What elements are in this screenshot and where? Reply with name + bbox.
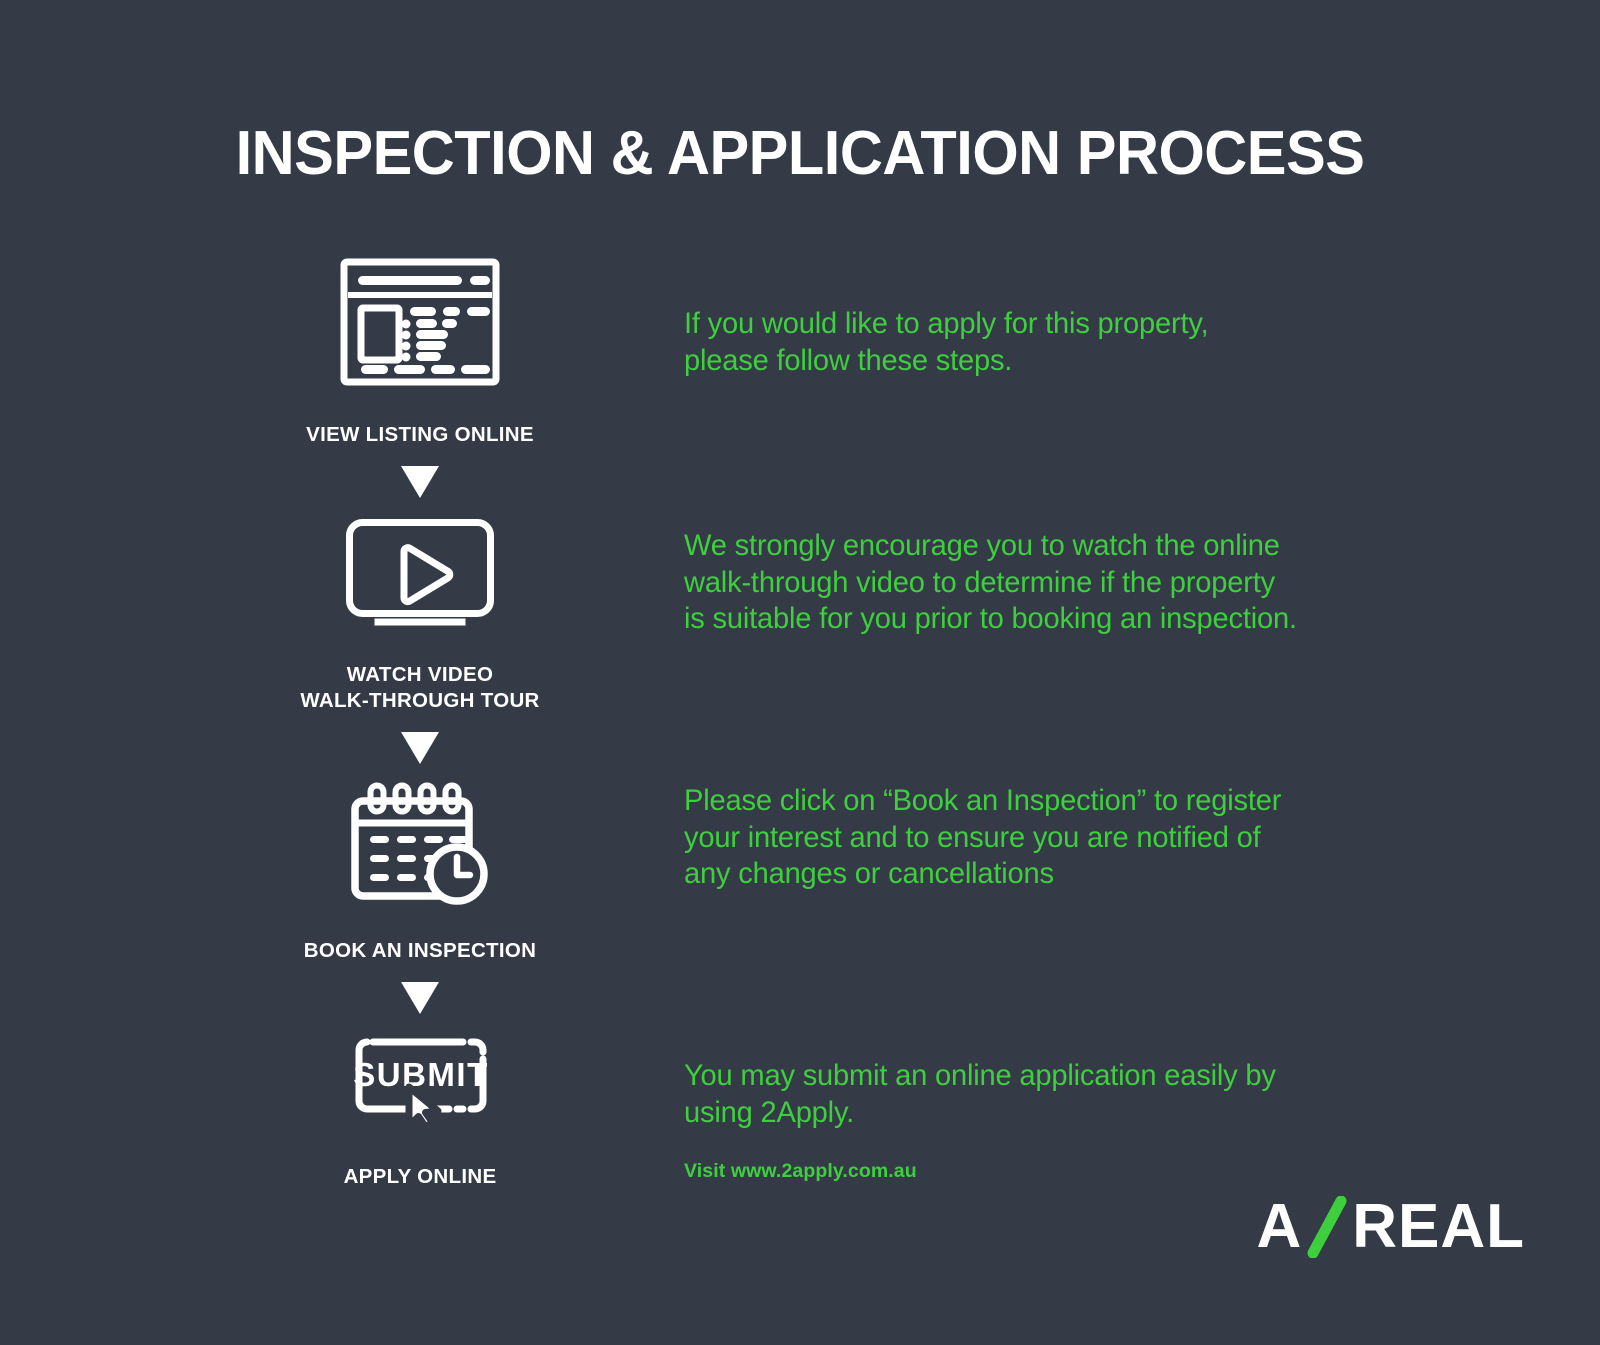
step-label-watch-video: WATCH VIDEO WALK-THROUGH TOUR [300,662,539,714]
logo-slash-icon [1304,1196,1350,1258]
flow-arrow-3 [255,982,585,1014]
flow-arrow-2 [255,732,585,764]
process-flow-column: VIEW LISTING ONLINE WATCH VIDEO WALK-THR… [255,258,585,1190]
step-apply-online: SUBMIT APPLY ONLINE [255,1033,585,1190]
copy-apply-online: You may submit an online application eas… [684,1058,1276,1131]
infographic-page: INSPECTION & APPLICATION PROCESS [0,0,1600,1345]
step-label-apply-online: APPLY ONLINE [344,1164,497,1190]
submit-icon-text: SUBMIT [353,1056,489,1093]
step-view-listing-online: VIEW LISTING ONLINE [255,258,585,448]
logo-word-real: REAL [1352,1196,1525,1258]
copy-watch-video: We strongly encourage you to watch the o… [684,528,1297,638]
copy-view-listing: If you would like to apply for this prop… [684,306,1208,379]
copy-book-inspection: Please click on “Book an Inspection” to … [684,783,1281,893]
submit-button-cursor-icon: SUBMIT [345,1033,495,1133]
page-title: INSPECTION & APPLICATION PROCESS [32,118,1568,189]
flow-arrow-1 [255,466,585,498]
visit-link[interactable]: Visit www.2apply.com.au [684,1160,917,1183]
calendar-clock-icon [347,778,493,913]
browser-listing-icon [340,258,500,391]
step-label-book-inspection: BOOK AN INSPECTION [304,938,536,964]
brand-logo: A REAL [1256,1196,1525,1258]
step-book-inspection: BOOK AN INSPECTION [255,778,585,964]
video-play-monitor-icon [345,518,495,633]
step-label-view-listing-online: VIEW LISTING ONLINE [306,422,534,448]
logo-letter-a: A [1256,1196,1302,1258]
step-watch-video: WATCH VIDEO WALK-THROUGH TOUR [255,518,585,714]
